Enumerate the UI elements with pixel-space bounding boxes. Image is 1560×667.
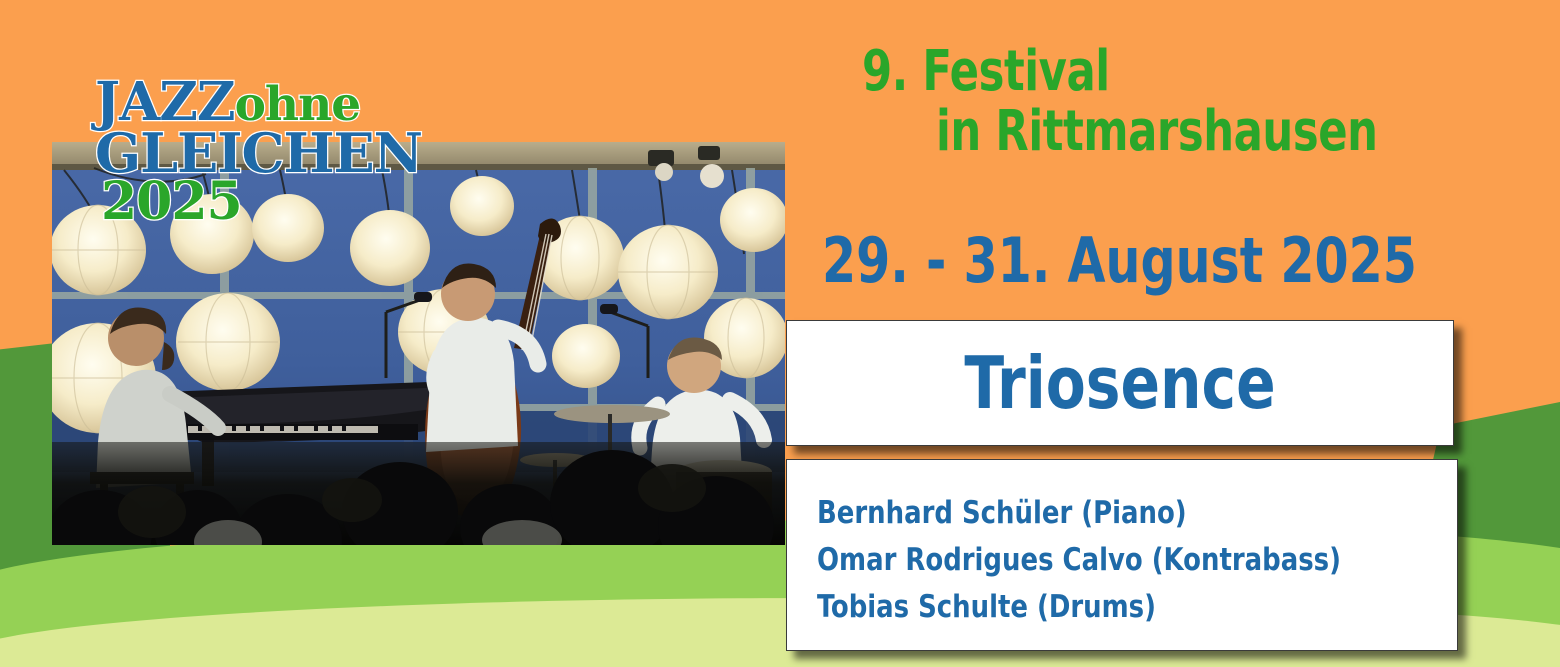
band-name-card: Triosence	[786, 320, 1454, 446]
band-member: Omar Rodrigues Calvo (Kontrabass)	[817, 537, 1412, 584]
band-members-list: Bernhard Schüler (Piano) Omar Rodrigues …	[787, 460, 1457, 631]
festival-heading-line1: 9. Festival	[862, 39, 1110, 104]
band-name: Triosence	[820, 321, 1419, 445]
festival-poster: JAZZohne GLEICHEN 2025 9. Festival in Ri…	[0, 0, 1560, 667]
logo-year: 2025	[101, 171, 242, 232]
festival-heading-line2: in Rittmarshausen	[936, 102, 1378, 162]
festival-heading: 9. Festival in Rittmarshausen	[862, 42, 1378, 162]
band-member: Bernhard Schüler (Piano)	[817, 490, 1412, 537]
logo-row-year: 2025	[101, 178, 525, 226]
festival-logo: JAZZohne GLEICHEN 2025	[95, 78, 525, 226]
band-member: Tobias Schulte (Drums)	[817, 584, 1412, 631]
festival-dates: 29. - 31. August 2025	[822, 224, 1417, 297]
band-members-card: Bernhard Schüler (Piano) Omar Rodrigues …	[786, 459, 1458, 651]
logo-row-jazz-ohne: JAZZohne	[95, 78, 525, 127]
